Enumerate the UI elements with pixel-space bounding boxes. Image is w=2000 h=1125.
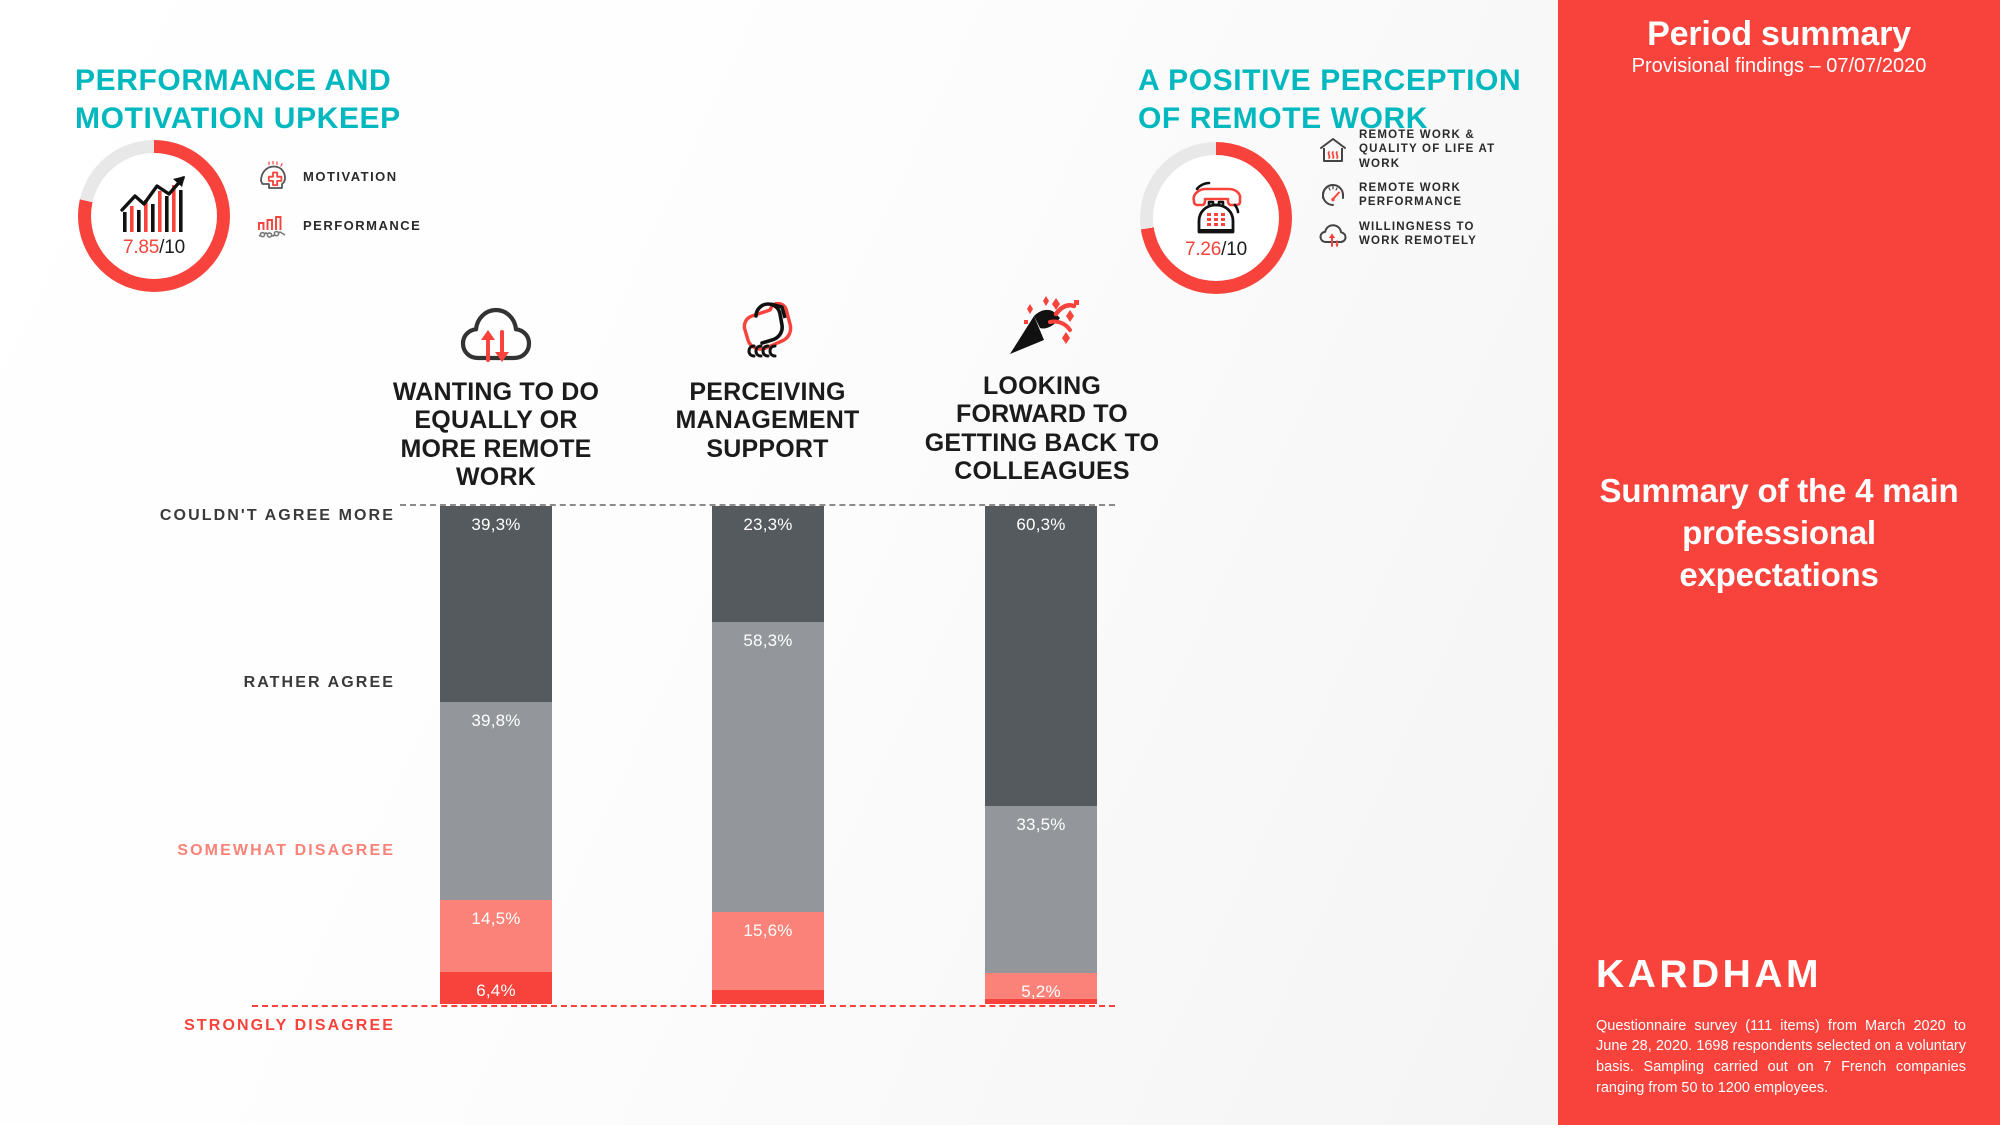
table-row[interactable]: 23,3%58,3%15,6%2,8% [712,506,824,1004]
pointing-hand-icon [650,292,885,368]
bar-segment-value: 39,8% [471,702,520,731]
chart-category-1: PERCEIVING MANAGEMENT SUPPORT [650,292,885,463]
bar-segment-value: 60,3% [1016,506,1065,535]
chart-category-2: LOOKING FORWARD TO GETTING BACK TO COLLE… [922,286,1162,485]
chart-category-label-0: WANTING TO DO EQUALLY OR MORE REMOTE WOR… [376,378,616,491]
bar-segment[interactable]: 5,2% [985,973,1097,999]
bar-segment[interactable]: 33,5% [985,806,1097,973]
bar-segment-value: 15,6% [743,912,792,941]
bar-segment[interactable]: 14,5% [440,900,552,972]
axis-label-strongly-disagree: STRONGLY DISAGREE [150,1015,395,1037]
side-panel: Period summary Provisional findings – 07… [1558,0,2000,1125]
chart-baseline [252,1005,1115,1007]
bar-segment-value: 39,3% [471,506,520,535]
bar-segment[interactable]: 23,3% [712,506,824,622]
kardham-logo: KARDHAM [1596,953,1822,997]
panel-main-title: Summary of the 4 main professional expec… [1586,470,1972,596]
main-content-area: PERFORMANCE AND MOTIVATION UPKEEP [0,0,1558,1125]
axis-label-couldnt-agree-more: COULDN'T AGREE MORE [150,505,395,527]
axis-label-somewhat-disagree: SOMEWHAT DISAGREE [150,840,395,862]
panel-title: Period summary [1576,16,1982,53]
axis-label-rather-agree: RATHER AGREE [150,672,395,694]
infographic-slide: PERFORMANCE AND MOTIVATION UPKEEP [0,0,2000,1125]
bar-segment[interactable]: 6,4% [440,972,552,1004]
chart-category-0: WANTING TO DO EQUALLY OR MORE REMOTE WOR… [376,292,616,491]
bar-segment[interactable]: 60,3% [985,506,1097,806]
table-row[interactable]: 39,3%39,8%14,5%6,4% [440,506,552,1004]
chart-category-label-1: PERCEIVING MANAGEMENT SUPPORT [650,378,885,463]
panel-header: Period summary Provisional findings – 07… [1558,16,2000,78]
bar-segment-value: 23,3% [743,506,792,535]
panel-subtitle: Provisional findings – 07/07/2020 [1576,55,1982,78]
table-row[interactable]: 60,3%33,5%5,2% [985,506,1097,1004]
bar-segment-value: 33,5% [1016,806,1065,835]
bar-segment-value: 5,2% [1021,973,1061,1002]
bar-segment-value: 14,5% [471,900,520,929]
bar-segment-value: 6,4% [476,972,516,1001]
party-popper-icon [922,286,1162,362]
cloud-up-down-arrows-icon [376,292,616,368]
bar-segment[interactable]: 58,3% [712,622,824,912]
chart-category-label-2: LOOKING FORWARD TO GETTING BACK TO COLLE… [922,372,1162,485]
stacked-bar-chart: WANTING TO DO EQUALLY OR MORE REMOTE WOR… [0,0,1558,1125]
panel-footnote: Questionnaire survey (111 items) from Ma… [1596,1016,1966,1100]
bar-segment[interactable]: 39,8% [440,702,552,900]
bar-segment[interactable]: 39,3% [440,506,552,702]
bar-segment[interactable]: 2,8% [712,990,824,1004]
bar-segment[interactable] [985,999,1097,1004]
bar-segment[interactable]: 15,6% [712,912,824,990]
bar-segment-value: 58,3% [743,622,792,651]
